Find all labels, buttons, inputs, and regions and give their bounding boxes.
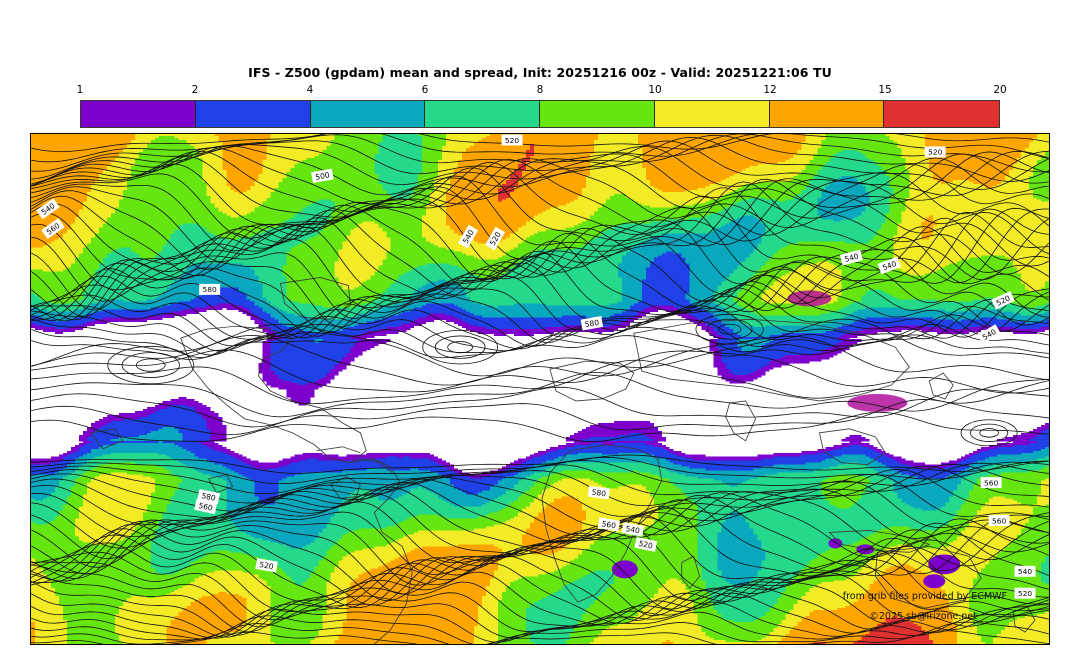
svg-text:520: 520 xyxy=(505,136,520,145)
colorbar-segment-1-2 xyxy=(81,101,196,127)
svg-text:580: 580 xyxy=(203,285,218,294)
weather-map-figure: IFS - Z500 (gpdam) mean and spread, Init… xyxy=(0,0,1080,658)
colorbar-segment-8-10 xyxy=(540,101,655,127)
source-attribution: from grib files provided by ECMWF xyxy=(843,591,1007,602)
colorbar-tick-2: 2 xyxy=(192,84,199,96)
contour-label: 560 xyxy=(989,515,1010,526)
svg-text:540: 540 xyxy=(1018,567,1033,576)
svg-text:520: 520 xyxy=(928,148,943,157)
copyright-attribution: ©2025 sb@irizone.net xyxy=(869,611,977,622)
contour-label: 520 xyxy=(502,134,523,145)
colorbar-tick-12: 12 xyxy=(763,84,776,96)
colorbar-tick-15: 15 xyxy=(878,84,891,96)
colorbar-legend: 1246810121520 xyxy=(80,84,1000,128)
colorbar-segment-4-6 xyxy=(311,101,426,127)
contour-label: 580 xyxy=(199,284,220,295)
svg-text:520: 520 xyxy=(1018,589,1033,598)
page-title: IFS - Z500 (gpdam) mean and spread, Init… xyxy=(0,65,1080,80)
map-canvas[interactable]: 5205005405605405205805205405405205805405… xyxy=(30,133,1050,645)
colorbar-tick-6: 6 xyxy=(422,84,429,96)
colorbar-tick-20: 20 xyxy=(993,84,1006,96)
colorbar-tick-1: 1 xyxy=(77,84,84,96)
svg-text:560: 560 xyxy=(992,516,1007,525)
contour-label: 520 xyxy=(1015,588,1036,599)
colorbar-tick-8: 8 xyxy=(537,84,544,96)
colorbar-tick-4: 4 xyxy=(307,84,314,96)
colorbar-segment-6-8 xyxy=(425,101,540,127)
svg-text:560: 560 xyxy=(984,478,999,487)
contour-label: 560 xyxy=(981,477,1002,488)
colorbar-tick-10: 10 xyxy=(648,84,661,96)
colorbar-tick-labels: 1246810121520 xyxy=(80,84,1000,98)
colorbar-segment-10-12 xyxy=(655,101,770,127)
colorbar-segment-15-20 xyxy=(884,101,999,127)
contour-label: 540 xyxy=(1015,566,1036,577)
colorbar-segment-12-15 xyxy=(770,101,885,127)
colorbar-swatches xyxy=(80,100,1000,128)
colorbar-segment-2-4 xyxy=(196,101,311,127)
contour-label: 520 xyxy=(925,146,946,157)
map-graphics: 5205005405605405205805205405405205805405… xyxy=(31,134,1049,644)
